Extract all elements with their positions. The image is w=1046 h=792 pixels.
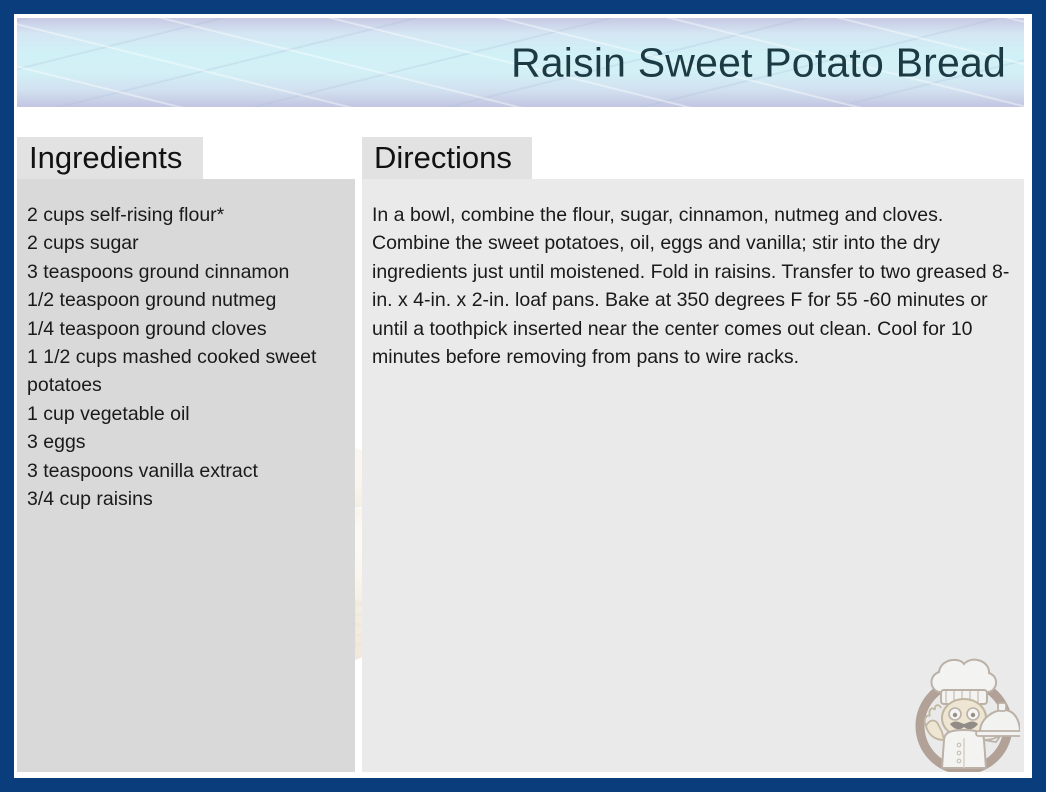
ingredients-panel: 2 cups self-rising flour* 2 cups sugar 3…: [17, 179, 355, 772]
list-item: 1/2 teaspoon ground nutmeg: [27, 286, 345, 314]
ingredients-list: 2 cups self-rising flour* 2 cups sugar 3…: [17, 179, 355, 513]
page-title: Raisin Sweet Potato Bread: [511, 39, 1006, 86]
directions-text: In a bowl, combine the flour, sugar, cin…: [372, 201, 1014, 371]
list-item: 3 teaspoons vanilla extract: [27, 457, 345, 485]
list-item: 2 cups sugar: [27, 229, 345, 257]
list-item: 1 cup vegetable oil: [27, 400, 345, 428]
recipe-card-slide: Raisin Sweet Potato Bread Ingredients: [0, 0, 1046, 792]
list-item: 3/4 cup raisins: [27, 485, 345, 513]
tab-ingredients[interactable]: Ingredients: [17, 137, 203, 179]
list-item: 3 teaspoons ground cinnamon: [27, 258, 345, 286]
tab-ingredients-label: Ingredients: [29, 140, 182, 176]
list-item: 3 eggs: [27, 428, 345, 456]
tab-directions-label: Directions: [374, 140, 512, 176]
directions-panel: In a bowl, combine the flour, sugar, cin…: [362, 179, 1024, 772]
tab-directions[interactable]: Directions: [362, 137, 532, 179]
list-item: 2 cups self-rising flour*: [27, 201, 345, 229]
directions-body: In a bowl, combine the flour, sugar, cin…: [362, 179, 1024, 371]
list-item: 1/4 teaspoon ground cloves: [27, 315, 345, 343]
header-banner: Raisin Sweet Potato Bread: [17, 18, 1024, 107]
list-item: 1 1/2 cups mashed cooked sweet potatoes: [27, 343, 345, 400]
